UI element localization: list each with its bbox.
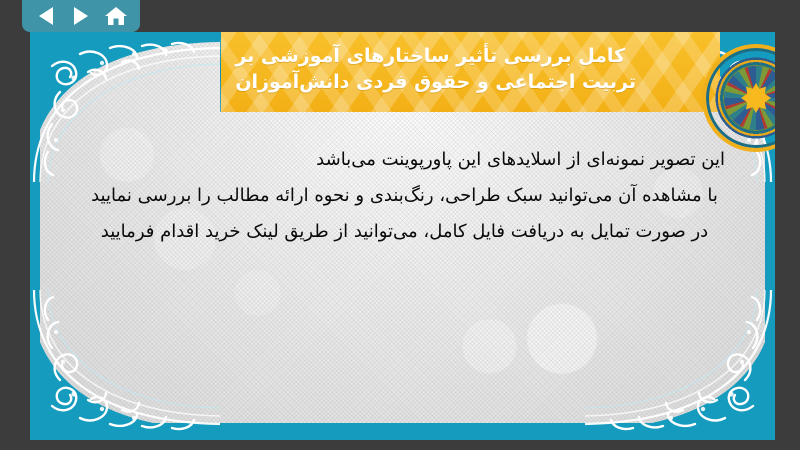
body-line-2: با مشاهده آن می‌توانید سبک طراحی، رنگ‌بن… (70, 178, 739, 214)
slide-title-line-1: کامل بررسی تأثیر ساختارهای آموزشی بر (235, 44, 625, 70)
back-button[interactable] (32, 3, 60, 29)
slide-canvas: کامل بررسی تأثیر ساختارهای آموزشی بر ترب… (30, 32, 775, 440)
forward-button[interactable] (67, 3, 95, 29)
slide-title-line-2: تربیت اجتماعی و حقوق فردی دانش‌آموزان (235, 70, 636, 96)
slide-title-banner: کامل بررسی تأثیر ساختارهای آموزشی بر ترب… (220, 32, 720, 112)
triangle-left-icon (39, 7, 53, 25)
banner-arrow-point (220, 32, 221, 112)
pdf-viewer: کامل بررسی تأثیر ساختارهای آموزشی بر ترب… (0, 0, 800, 450)
triangle-right-icon (74, 7, 88, 25)
navigation-toolbar (22, 0, 140, 32)
banner-body: کامل بررسی تأثیر ساختارهای آموزشی بر ترب… (221, 32, 720, 112)
home-button[interactable] (102, 3, 130, 29)
slide-body-text: این تصویر نمونه‌ای از اسلایدهای این پاور… (70, 142, 739, 250)
home-icon (104, 5, 128, 27)
body-line-1: این تصویر نمونه‌ای از اسلایدهای این پاور… (70, 142, 739, 178)
body-line-3: در صورت تمایل به دریافت فایل کامل، می‌تو… (70, 214, 739, 250)
